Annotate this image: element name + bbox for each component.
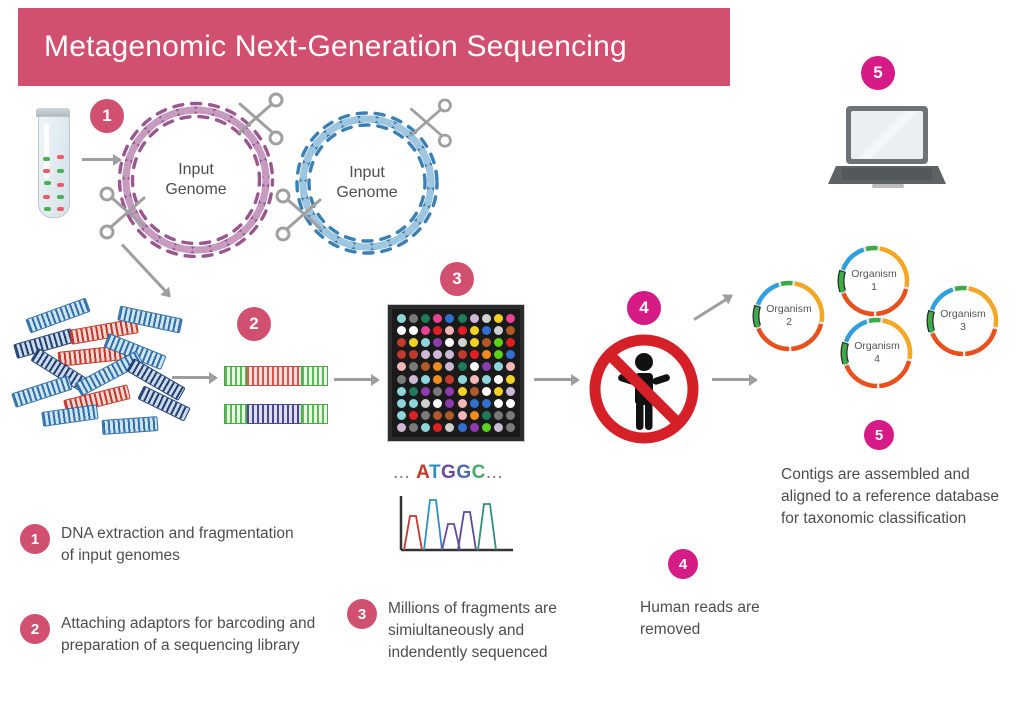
flow-cell-dot (494, 423, 503, 432)
chromatogram-peak-0 (404, 516, 422, 550)
flow-cell-dot (506, 411, 515, 420)
flow-cell-dot (409, 423, 418, 432)
organism-number: 3 (960, 321, 966, 334)
flow-cell-dot (506, 387, 515, 396)
flow-cell-dot (433, 338, 442, 347)
flow-cell-dot (506, 326, 515, 335)
legend-text-2: Attaching adaptors for barcoding and pre… (61, 613, 320, 657)
flow-cell-dot (494, 375, 503, 384)
flow-cell-dot (494, 326, 503, 335)
flow-cell-dot (494, 350, 503, 359)
organism-name: Organism (766, 303, 812, 316)
flow-cell-dot (482, 387, 491, 396)
flow-cell-dot (421, 326, 430, 335)
flow-cell-dot (409, 411, 418, 420)
flow-cell-dot (470, 387, 479, 396)
flow-cell-icon (388, 305, 524, 441)
flow-cell-dot (494, 387, 503, 396)
flow-cell-dot (470, 399, 479, 408)
flow-cell-dot (470, 411, 479, 420)
flow-cell-dot (482, 350, 491, 359)
step-badge-3: 3 (440, 262, 474, 296)
flow-cell-dot (433, 314, 442, 323)
test-tube-icon (34, 108, 72, 216)
flow-cell-dot (482, 375, 491, 384)
organism-circle-2: Organism 2 (748, 275, 830, 357)
genome-label-line2: Genome (165, 180, 226, 200)
legend-badge-2: 2 (20, 614, 50, 644)
basecall-suffix: ... (486, 462, 503, 483)
flow-cell-dot (494, 399, 503, 408)
legend-badge-3: 3 (347, 599, 377, 629)
organism-name: Organism (851, 268, 897, 281)
legend-item-2: 2 Attaching adaptors for barcoding and p… (20, 613, 320, 657)
flow-cell-dot (433, 387, 442, 396)
page-title: Metagenomic Next-Generation Sequencing (18, 30, 627, 64)
organism-circle-1: Organism 1 (833, 240, 915, 322)
adaptor-fragment (224, 404, 328, 422)
flow-cell-dot (494, 314, 503, 323)
flow-cell-dot (397, 387, 406, 396)
flow-cell-dot (506, 362, 515, 371)
flow-cell-dot (458, 387, 467, 396)
basecall-base-1: T (429, 462, 441, 483)
legend-text-1: DNA extraction and fragmentation of inpu… (61, 523, 310, 567)
flow-cell-dot (482, 362, 491, 371)
basecall-sequence: ... ATGGC... (393, 462, 503, 484)
arrow-filter-to-organisms (712, 378, 756, 381)
flow-cell-dot (494, 338, 503, 347)
genome-label-line1: Input (178, 160, 214, 180)
flow-cell-dot (433, 362, 442, 371)
chromatogram-peak-3 (458, 512, 476, 550)
no-human-sign-icon (585, 330, 703, 448)
flow-cell-dot (458, 375, 467, 384)
flow-cell-dot (445, 350, 454, 359)
flow-cell-dot (445, 326, 454, 335)
organism-name: Organism (940, 308, 986, 321)
flow-cell-dot (421, 399, 430, 408)
legend-item-1: 1 DNA extraction and fragmentation of in… (20, 523, 310, 567)
flow-cell-dot (433, 423, 442, 432)
legend-text-4: Human reads are removed (640, 597, 790, 641)
flow-cell-dot (397, 375, 406, 384)
flow-cell-dot (433, 326, 442, 335)
scissors-icon (272, 188, 328, 244)
flow-cell-dot (506, 350, 515, 359)
flow-cell-dot (482, 326, 491, 335)
flow-cell-dot (433, 350, 442, 359)
flow-cell-dot (433, 375, 442, 384)
flow-cell-dot (409, 350, 418, 359)
flow-cell-dot (397, 326, 406, 335)
flow-cell-dot (458, 411, 467, 420)
flow-cell-dot (506, 375, 515, 384)
flow-cell-dot (458, 338, 467, 347)
flow-cell-dot (494, 362, 503, 371)
flow-cell-dot (506, 314, 515, 323)
flow-cell-dot (397, 411, 406, 420)
flow-cell-dot (482, 338, 491, 347)
basecall-base-4: C (472, 462, 486, 483)
adaptor-fragment (224, 366, 328, 384)
laptop-icon (828, 104, 946, 190)
arrow-filter-to-organisms-diagonal (693, 295, 732, 320)
arrow-fragments-to-adaptors (172, 376, 216, 379)
flow-cell-dot (506, 338, 515, 347)
flow-cell-dot (482, 423, 491, 432)
flow-cell-dot (445, 423, 454, 432)
flow-cell-dot (482, 411, 491, 420)
flow-cell-dot (397, 399, 406, 408)
flow-cell-dot (458, 314, 467, 323)
flow-cell-dot (470, 338, 479, 347)
flow-cell-dot (409, 375, 418, 384)
flow-cell-dot (458, 423, 467, 432)
scissors-icon (232, 92, 288, 148)
flow-cell-dot (494, 411, 503, 420)
flow-cell-dot (445, 387, 454, 396)
flow-cell-dot (458, 350, 467, 359)
flow-cell-dot (397, 423, 406, 432)
organism-number: 2 (786, 316, 792, 329)
organism-name: Organism (854, 340, 900, 353)
flow-cell-dot (409, 338, 418, 347)
flow-cell-dot (421, 362, 430, 371)
chromatogram-peak-2 (442, 524, 460, 550)
flow-cell-dot (470, 423, 479, 432)
legend-text-5: Contigs are assembled and aligned to a r… (781, 464, 1017, 530)
chromatogram-peak-4 (478, 504, 496, 550)
genome-label-line2: Genome (336, 183, 397, 203)
arrow-flowcell-to-filter (534, 378, 578, 381)
flow-cell-dot (409, 387, 418, 396)
flow-cell-dot (421, 411, 430, 420)
arrow-adaptors-to-flowcell (334, 378, 378, 381)
flow-cell-dot (470, 362, 479, 371)
flow-cell-dot (458, 399, 467, 408)
step-badge-5-top: 5 (861, 56, 895, 90)
basecall-base-2: G (441, 462, 456, 483)
flow-cell-dot (433, 411, 442, 420)
scissors-icon (96, 186, 152, 242)
flow-cell-dot (470, 326, 479, 335)
flow-cell-dot (421, 350, 430, 359)
flow-cell-dot (470, 314, 479, 323)
flow-cell-dot (458, 326, 467, 335)
flow-cell-dot (445, 375, 454, 384)
flow-cell-dot (482, 314, 491, 323)
basecall-base-0: A (416, 462, 429, 483)
step-badge-4: 4 (627, 291, 661, 325)
flow-cell-dot (445, 362, 454, 371)
flow-cell-dot (397, 314, 406, 323)
organism-circle-3: Organism 3 (922, 280, 1004, 362)
genome-label-line1: Input (349, 163, 385, 183)
organism-number: 4 (874, 353, 880, 366)
flow-cell-dot (409, 362, 418, 371)
flow-cell-dot (445, 314, 454, 323)
legend-badge-4: 4 (668, 549, 698, 579)
flow-cell-dot (397, 338, 406, 347)
basecall-prefix: ... (393, 462, 416, 483)
flow-cell-dot (421, 314, 430, 323)
flow-cell-dot (470, 375, 479, 384)
flow-cell-dot (470, 350, 479, 359)
flow-cell-dot (397, 350, 406, 359)
flow-cell-dot (482, 399, 491, 408)
flow-cell-dot (445, 399, 454, 408)
flow-cell-dot (506, 399, 515, 408)
flow-cell-dot (421, 387, 430, 396)
chromatogram-peak-1 (424, 500, 442, 550)
organism-circle-4: Organism 4 (836, 312, 918, 394)
flow-cell-dot (445, 411, 454, 420)
flow-cell-dot (409, 326, 418, 335)
flow-cell-dot (421, 338, 430, 347)
legend-item-3: 3 Millions of fragments are simiultaneou… (347, 598, 597, 664)
legend-text-3: Millions of fragments are simiultaneousl… (388, 598, 597, 664)
flow-cell-dot (433, 399, 442, 408)
flow-cell-dot (397, 362, 406, 371)
organism-number: 1 (871, 281, 877, 294)
legend-badge-5: 5 (864, 420, 894, 450)
flow-cell-dot (421, 375, 430, 384)
flow-cell-dot (445, 338, 454, 347)
flow-cell-dot (458, 362, 467, 371)
legend-badge-1: 1 (20, 524, 50, 554)
flow-cell-dot (409, 399, 418, 408)
flow-cell-dot (421, 423, 430, 432)
step-badge-2: 2 (237, 307, 271, 341)
chromatogram-chart (395, 494, 517, 556)
dna-fragment-pile (8, 300, 198, 450)
flow-cell-dot (409, 314, 418, 323)
scissors-icon (404, 98, 456, 150)
flow-cell-dot (506, 423, 515, 432)
basecall-base-3: G (456, 462, 471, 483)
title-banner: Metagenomic Next-Generation Sequencing (18, 8, 730, 86)
